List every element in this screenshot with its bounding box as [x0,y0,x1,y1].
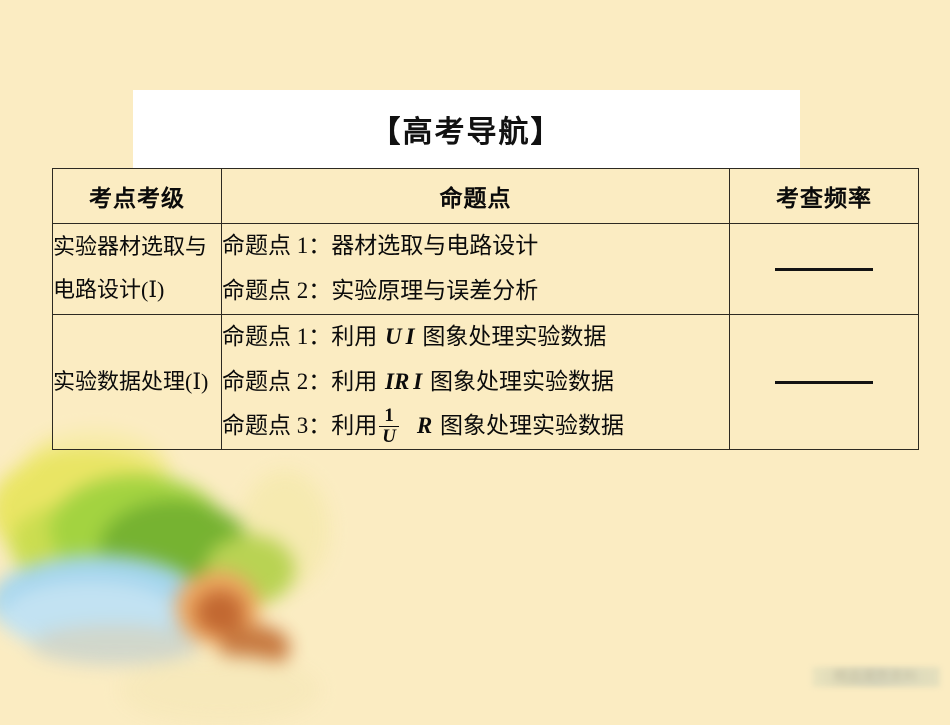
frequency-dash-icon [775,381,873,384]
symbol-i: I [404,324,417,349]
title-box: 【高考导航】 [133,90,800,168]
row-frequency [730,314,919,450]
exam-point-text: 器材选取与电路设计 [331,233,538,258]
fraction-numerator: 1 [379,407,399,426]
table-row: 实验器材选取与电路设计(Ⅰ) 命题点 1：器材选取与电路设计 命题点 2：实验原… [53,224,919,315]
decorative-photo [0,430,320,720]
exam-point-label: 命题点 2： [222,278,331,303]
fraction-denominator: U [379,428,399,447]
exam-point-label: 命题点 3： [222,413,331,438]
exam-point-text: 实验原理与误差分析 [331,278,538,303]
exam-point-line: 命题点 2：利用 IRI 图象处理实验数据 [222,360,729,405]
fraction-one-over-u: 1 U [379,407,399,448]
header-exam-points: 命题点 [222,169,730,224]
exam-point-line: 命题点 2：实验原理与误差分析 [222,269,729,314]
header-category: 考点考级 [53,169,222,224]
symbol-ir: IR [383,369,411,394]
exam-point-prefix: 利用 [331,324,383,349]
row-category: 实验器材选取与电路设计(Ⅰ) [53,224,222,315]
table-row: 实验数据处理(Ⅰ) 命题点 1：利用 UI 图象处理实验数据 命题点 2：利用 … [53,314,919,450]
row-exam-points: 命题点 1：器材选取与电路设计 命题点 2：实验原理与误差分析 [222,224,730,315]
watermark-text: 精品课件资料 [812,665,940,687]
table-header-row: 考点考级 命题点 考查频率 [53,169,919,224]
frequency-dash-icon [775,268,873,271]
exam-point-line: 命题点 1：利用 UI 图象处理实验数据 [222,315,729,360]
symbol-r: R [415,413,434,438]
page-title: 【高考导航】 [371,107,563,151]
exam-point-label: 命题点 1： [222,233,331,258]
exam-point-prefix: 利用 [331,369,383,394]
exam-point-label: 命题点 2： [222,369,331,394]
row-frequency [730,224,919,315]
gaokao-navigation-table: 考点考级 命题点 考查频率 实验器材选取与电路设计(Ⅰ) 命题点 1：器材选取与… [52,168,919,450]
exam-point-line: 命题点 1：器材选取与电路设计 [222,224,729,269]
exam-point-line: 命题点 3：利用 1 U R 图象处理实验数据 [222,404,729,449]
exam-point-text: 图象处理实验数据 [434,413,624,438]
watermark-band [812,667,940,687]
exam-point-text: 图象处理实验数据 [424,369,614,394]
row-exam-points: 命题点 1：利用 UI 图象处理实验数据 命题点 2：利用 IRI 图象处理实验… [222,314,730,450]
symbol-u: U [383,324,404,349]
symbol-i: I [411,369,424,394]
exam-point-text: 图象处理实验数据 [417,324,607,349]
row-category: 实验数据处理(Ⅰ) [53,314,222,450]
header-frequency: 考查频率 [730,169,919,224]
exam-point-label: 命题点 1： [222,324,331,349]
watermark: 精品课件资料 [812,663,940,691]
exam-point-prefix: 利用 [331,413,377,438]
